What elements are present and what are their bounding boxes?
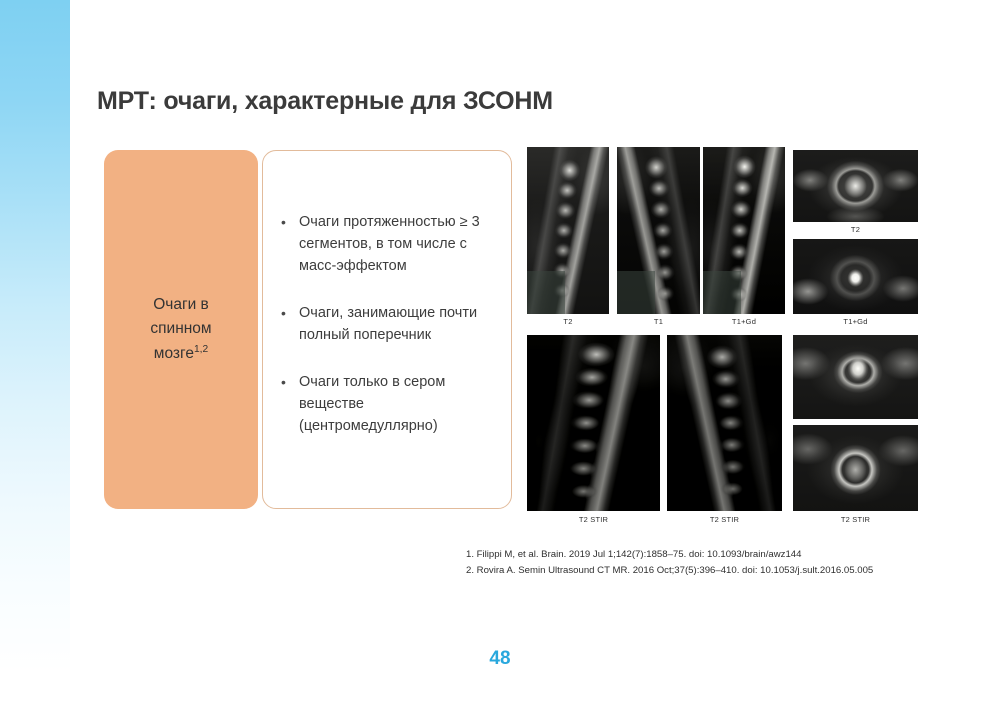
callout-box-spinal-cord: Очаги в спинном мозге1,2 (104, 150, 258, 509)
mri-caption-sagittal-t2stir-1: T2 STIR (527, 515, 660, 524)
mri-image-sagittal-t2stir-1 (527, 335, 660, 511)
list-item: • Очаги, занимающие почти полный попереч… (281, 302, 495, 346)
mri-texture (527, 335, 660, 511)
callout-line-2: спинном (150, 320, 211, 337)
page-number: 48 (0, 648, 1000, 670)
bullet-text: Очаги только в сером веществе (центромед… (299, 371, 495, 437)
list-item: • Очаги протяженностью ≥ 3 сегментов, в … (281, 211, 495, 277)
mri-texture (527, 147, 609, 314)
callout-label: Очаги в спинном мозге1,2 (140, 293, 221, 365)
mri-image-sagittal-t1gd (703, 147, 785, 314)
callout-superscript: 1,2 (194, 343, 208, 354)
mri-texture (667, 335, 782, 511)
mri-caption-axial-t2: T2 (793, 225, 918, 234)
mri-caption-sagittal-t2: T2 (527, 317, 609, 326)
left-gradient-band (0, 0, 70, 716)
mri-image-sagittal-t2 (527, 147, 609, 314)
mri-figure-panel: T2 T1 T1+Gd T2 T1+Gd T2 STIR T2 STIR (525, 147, 920, 529)
bullet-marker-icon: • (281, 371, 299, 437)
bullet-marker-icon: • (281, 211, 299, 277)
mri-caption-sagittal-t1gd: T1+Gd (703, 317, 785, 326)
mri-image-axial-t2stir-2 (793, 425, 918, 511)
list-item: • Очаги только в сером веществе (центром… (281, 371, 495, 437)
callout-line-1: Очаги в (153, 296, 209, 313)
page-title: МРТ: очаги, характерные для ЗСОНМ (97, 87, 553, 116)
mri-texture (617, 147, 700, 314)
mri-image-axial-t2stir-1 (793, 335, 918, 419)
mri-caption-sagittal-t2stir-2: T2 STIR (667, 515, 782, 524)
bullet-text: Очаги, занимающие почти полный поперечни… (299, 302, 495, 346)
bullets-box: • Очаги протяженностью ≥ 3 сегментов, в … (262, 150, 512, 509)
mri-image-axial-t2 (793, 150, 918, 222)
mri-caption-axial-t1gd: T1+Gd (793, 317, 918, 326)
references-block: 1. Filippi M, et al. Brain. 2019 Jul 1;1… (466, 547, 936, 578)
reference-item-1: 1. Filippi M, et al. Brain. 2019 Jul 1;1… (466, 547, 936, 563)
mri-texture (793, 239, 918, 314)
mri-caption-axial-t2stir: T2 STIR (793, 515, 918, 524)
mri-image-sagittal-t2stir-2 (667, 335, 782, 511)
mri-texture (793, 335, 918, 419)
reference-item-2: 2. Rovira A. Semin Ultrasound CT MR. 201… (466, 563, 936, 579)
bullet-marker-icon: • (281, 302, 299, 346)
mri-texture (793, 150, 918, 222)
mri-image-axial-t1gd (793, 239, 918, 314)
mri-caption-sagittal-t1: T1 (617, 317, 700, 326)
mri-texture (703, 147, 785, 314)
slide-canvas: МРТ: очаги, характерные для ЗСОНМ Очаги … (0, 0, 1000, 716)
mri-image-sagittal-t1 (617, 147, 700, 314)
bullet-text: Очаги протяженностью ≥ 3 сегментов, в то… (299, 211, 495, 277)
callout-line-3: мозге (154, 345, 194, 362)
mri-texture (793, 425, 918, 511)
